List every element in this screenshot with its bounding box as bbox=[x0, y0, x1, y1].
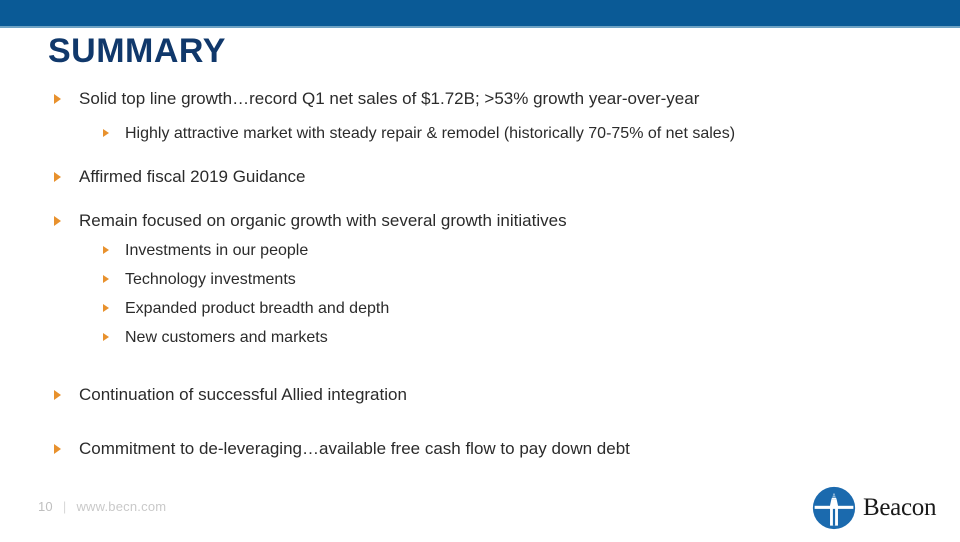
banner-underline bbox=[0, 26, 960, 28]
spacer bbox=[0, 110, 960, 123]
bullet-text: Remain focused on organic growth with se… bbox=[79, 210, 960, 232]
bullet-triangle-icon bbox=[103, 275, 109, 283]
spacer bbox=[0, 290, 960, 298]
bullet-text: New customers and markets bbox=[125, 327, 960, 348]
bullet-item-7: Expanded product breadth and depth bbox=[0, 298, 960, 319]
bullet-list: Solid top line growth…record Q1 net sale… bbox=[0, 88, 960, 460]
bullet-text: Continuation of successful Allied integr… bbox=[79, 384, 960, 406]
bullet-text: Investments in our people bbox=[125, 240, 960, 261]
spacer bbox=[0, 261, 960, 269]
page-number: 10 bbox=[38, 499, 53, 514]
bullet-text: Commitment to de-leveraging…available fr… bbox=[79, 438, 960, 460]
bullet-item-3: Affirmed fiscal 2019 Guidance bbox=[0, 166, 960, 188]
bullet-triangle-icon bbox=[54, 172, 61, 182]
bullet-item-10: Commitment to de-leveraging…available fr… bbox=[0, 438, 960, 460]
bullet-triangle-icon bbox=[54, 390, 61, 400]
bullet-item-2: Highly attractive market with steady rep… bbox=[0, 123, 960, 144]
bullet-text: Expanded product breadth and depth bbox=[125, 298, 960, 319]
bullet-text: Highly attractive market with steady rep… bbox=[125, 123, 960, 144]
bullet-triangle-icon bbox=[103, 246, 109, 254]
bullet-triangle-icon bbox=[54, 216, 61, 226]
beacon-lighthouse-icon bbox=[812, 486, 856, 530]
top-banner bbox=[0, 0, 960, 26]
footer-separator: | bbox=[63, 499, 67, 514]
bullet-item-9: Continuation of successful Allied integr… bbox=[0, 384, 960, 406]
bullet-item-8: New customers and markets bbox=[0, 327, 960, 348]
spacer bbox=[0, 188, 960, 210]
bullet-triangle-icon bbox=[103, 304, 109, 312]
spacer bbox=[0, 348, 960, 384]
spacer bbox=[0, 406, 960, 438]
bullet-triangle-icon bbox=[103, 129, 109, 137]
bullet-item-1: Solid top line growth…record Q1 net sale… bbox=[0, 88, 960, 110]
spacer bbox=[0, 144, 960, 166]
footer-website: www.becn.com bbox=[76, 499, 166, 514]
company-logo: Beacon bbox=[812, 486, 936, 530]
spacer bbox=[0, 319, 960, 327]
bullet-text: Technology investments bbox=[125, 269, 960, 290]
bullet-item-6: Technology investments bbox=[0, 269, 960, 290]
presentation-slide: SUMMARY Solid top line growth…record Q1 … bbox=[0, 0, 960, 542]
bullet-text: Solid top line growth…record Q1 net sale… bbox=[79, 88, 960, 110]
logo-wordmark: Beacon bbox=[863, 494, 936, 522]
bullet-item-4: Remain focused on organic growth with se… bbox=[0, 210, 960, 232]
page-title: SUMMARY bbox=[48, 33, 226, 70]
bullet-item-5: Investments in our people bbox=[0, 240, 960, 261]
slide-footer: 10 | www.becn.com bbox=[38, 499, 166, 514]
bullet-triangle-icon bbox=[54, 444, 61, 454]
spacer bbox=[0, 232, 960, 240]
bullet-triangle-icon bbox=[54, 94, 61, 104]
bullet-triangle-icon bbox=[103, 333, 109, 341]
bullet-text: Affirmed fiscal 2019 Guidance bbox=[79, 166, 960, 188]
